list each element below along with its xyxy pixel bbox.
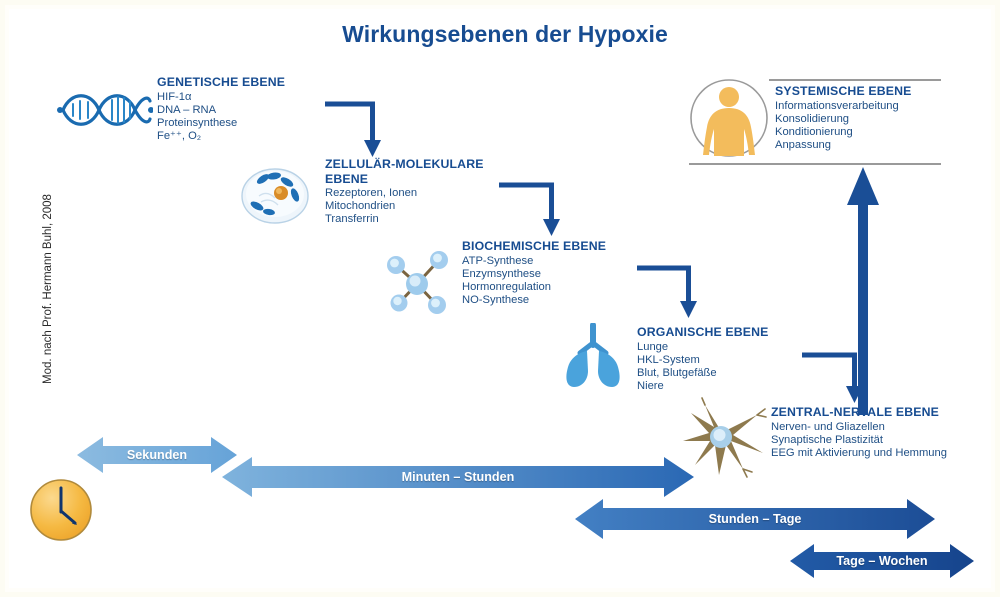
level-biochemical-title: BIOCHEMISCHE EBENE: [462, 239, 606, 254]
level-cellular-title: ZELLULÄR-MOLEKULARE EBENE: [325, 157, 520, 186]
level-systemic: SYSTEMISCHE EBENE Informationsverarbeitu…: [775, 84, 911, 152]
level-cellular-line-1: Mitochondrien: [325, 200, 520, 213]
level-organic-line-0: Lunge: [637, 341, 769, 354]
level-systemic-lines: Informationsverarbeitung Konsolidierung …: [775, 100, 911, 153]
credit-label: Mod. nach Prof. Hermann Buhl, 2008: [42, 184, 54, 394]
level-central-nervous-line-2: EEG mit Aktivierung und Hemmung: [771, 447, 961, 460]
level-systemic-line-3: Anpassung: [775, 139, 911, 152]
systemic-rule-bottom: [689, 163, 941, 165]
timeline-arrow-minuten-stunden: Minuten – Stunden: [222, 455, 694, 499]
level-systemic-line-0: Informationsverarbeitung: [775, 100, 911, 113]
level-organic-line-2: Blut, Blutgefäße: [637, 367, 769, 380]
neuron-icon: [681, 397, 773, 479]
page-title: Wirkungsebenen der Hypoxie: [5, 21, 1000, 48]
level-central-nervous-line-1: Synaptische Plastizität: [771, 434, 961, 447]
dna-icon: [57, 83, 153, 137]
level-central-nervous-line-0: Nerven- und Gliazellen: [771, 421, 961, 434]
level-genetic-line-1: DNA – RNA: [157, 104, 285, 117]
systemic-rule-top: [769, 79, 941, 81]
level-biochemical-line-1: Enzymsynthese: [462, 268, 606, 281]
molecule-icon: [379, 248, 455, 318]
connector-genetic-to-cellular: [323, 101, 393, 161]
level-systemic-title: SYSTEMISCHE EBENE: [775, 84, 911, 99]
cell-icon: [239, 162, 311, 226]
level-organic-line-1: HKL-System: [637, 354, 769, 367]
timeline-arrow-stunden-tage: Stunden – Tage: [575, 497, 935, 541]
person-icon: [689, 75, 769, 161]
level-biochemical-line-0: ATP-Synthese: [462, 255, 606, 268]
level-systemic-line-2: Konditionierung: [775, 126, 911, 139]
timeline-arrow-tage-wochen: Tage – Wochen: [790, 542, 974, 580]
connector-cellular-to-biochemical: [497, 182, 567, 240]
level-cellular-lines: Rezeptoren, Ionen Mitochondrien Transfer…: [325, 187, 520, 227]
level-cellular: ZELLULÄR-MOLEKULARE EBENE Rezeptoren, Io…: [325, 157, 520, 227]
timeline-label-minuten-stunden: Minuten – Stunden: [402, 470, 515, 484]
level-genetic-lines: HIF-1α DNA – RNA Proteinsynthese Fe⁺⁺, O…: [157, 91, 285, 144]
level-biochemical-lines: ATP-Synthese Enzymsynthese Hormonregulat…: [462, 255, 606, 308]
connector-biochemical-to-organic: [635, 265, 705, 323]
timeline-label-stunden-tage: Stunden – Tage: [709, 512, 802, 526]
level-genetic-line-0: HIF-1α: [157, 91, 285, 104]
level-organic-title: ORGANISCHE EBENE: [637, 325, 769, 340]
level-organic-line-3: Niere: [637, 380, 769, 393]
level-organic: ORGANISCHE EBENE Lunge HKL-System Blut, …: [637, 325, 769, 393]
level-genetic: GENETISCHE EBENE HIF-1α DNA – RNA Protei…: [157, 75, 285, 143]
level-genetic-line-2: Proteinsynthese: [157, 117, 285, 130]
timeline-label-tage-wochen: Tage – Wochen: [836, 554, 927, 568]
lungs-icon: [558, 323, 628, 389]
level-biochemical-line-3: NO-Synthese: [462, 294, 606, 307]
diagram-canvas: Wirkungsebenen der Hypoxie Mod. nach Pro…: [0, 0, 1000, 597]
timeline-arrow-sekunden: Sekunden: [77, 435, 237, 475]
level-organic-lines: Lunge HKL-System Blut, Blutgefäße Niere: [637, 341, 769, 394]
connector-central-nervous-to-systemic: [843, 165, 883, 417]
level-central-nervous-lines: Nerven- und Gliazellen Synaptische Plast…: [771, 421, 961, 461]
level-genetic-title: GENETISCHE EBENE: [157, 75, 285, 90]
level-systemic-line-1: Konsolidierung: [775, 113, 911, 126]
level-cellular-line-2: Transferrin: [325, 213, 520, 226]
level-biochemical-line-2: Hormonregulation: [462, 281, 606, 294]
clock-icon: [29, 478, 93, 542]
level-biochemical: BIOCHEMISCHE EBENE ATP-Synthese Enzymsyn…: [462, 239, 606, 307]
level-genetic-line-3: Fe⁺⁺, O₂: [157, 130, 285, 143]
timeline-label-sekunden: Sekunden: [127, 448, 187, 462]
level-cellular-line-0: Rezeptoren, Ionen: [325, 187, 520, 200]
